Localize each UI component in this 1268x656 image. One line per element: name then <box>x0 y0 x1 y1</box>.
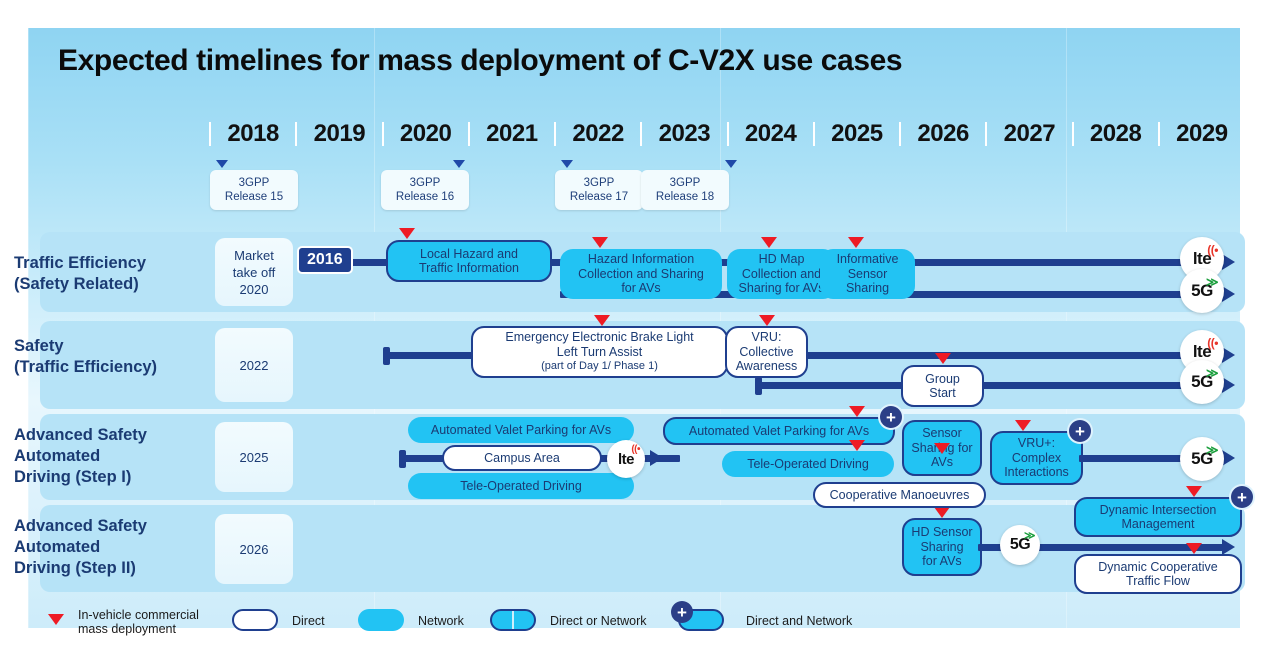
year-axis: 2018201920202021202220232024202520262027… <box>210 118 1245 154</box>
legend: In-vehicle commercial mass deployment Di… <box>40 600 1240 644</box>
plus-symbol: + <box>677 604 687 621</box>
year-tick <box>813 122 815 146</box>
legend-plus-badge: + <box>671 601 693 623</box>
year-label-2019: 2019 <box>296 118 382 154</box>
year-label-2028: 2028 <box>1073 118 1159 154</box>
item-hd-sensor-sharing[interactable]: HD Sensor Sharing for AVs <box>902 518 982 576</box>
legend-direct-or-network-label: Direct or Network <box>550 614 647 628</box>
row-label-line2: Automated <box>14 537 204 558</box>
plus-symbol: + <box>1075 423 1085 440</box>
item-tod-left[interactable]: Tele-Operated Driving <box>408 473 634 499</box>
year-tick <box>1244 122 1246 146</box>
item-hazard-info-sharing[interactable]: Hazard Information Collection and Sharin… <box>560 249 722 299</box>
year-label-2025: 2025 <box>814 118 900 154</box>
row-label-line2: Automated <box>14 446 204 467</box>
year-tick <box>1158 122 1160 146</box>
release-marker-icon <box>561 160 573 168</box>
year-tick <box>640 122 642 146</box>
row-label-line1: Traffic Efficiency <box>14 253 184 274</box>
row-label-advanced-safety-step1: Advanced Safety Automated Driving (Step … <box>14 425 204 488</box>
release-line2: Release 17 <box>555 190 643 204</box>
release-box-3: 3GPPRelease 17 <box>555 170 643 210</box>
year-tick <box>985 122 987 146</box>
year-tick <box>554 122 556 146</box>
year-label-2027: 2027 <box>986 118 1072 154</box>
marker-r4-hd-sensor <box>934 507 950 518</box>
marker-r4-dyn-intersection <box>1186 486 1202 497</box>
item-avp-left[interactable]: Automated Valet Parking for AVs <box>408 417 634 443</box>
marker-r1-informative <box>848 237 864 248</box>
row-label-line3: Driving (Step I) <box>14 467 204 488</box>
release-box-1: 3GPPRelease 15 <box>210 170 298 210</box>
row-label-line3: Driving (Step II) <box>14 558 204 579</box>
tech-badge-5g-row3: ≫ 5G <box>1180 437 1224 481</box>
year-label-2026: 2026 <box>900 118 986 154</box>
year-tick <box>468 122 470 146</box>
release-line2: Release 16 <box>381 190 469 204</box>
legend-marker-label: In-vehicle commercial mass deployment <box>78 608 228 636</box>
row-yearbox-traffic-efficiency: Market take off 2020 <box>215 238 293 306</box>
row-label-advanced-safety-step2: Advanced Safety Automated Driving (Step … <box>14 516 204 579</box>
marker-r3-sensor-sharing <box>934 443 950 454</box>
marker-r3-tod-right <box>849 440 865 451</box>
row-label-line1: Advanced Safety <box>14 425 204 446</box>
signal-icon: ((• <box>1207 244 1218 256</box>
year-label-2020: 2020 <box>383 118 469 154</box>
row-label-line2: (Traffic Efficiency) <box>14 357 204 378</box>
tech-badge-5g-row4: ≫ 5G <box>1000 525 1040 565</box>
release-marker-icon <box>453 160 465 168</box>
timeline-infographic: Expected timelines for mass deployment o… <box>0 0 1268 656</box>
year-label-2024: 2024 <box>728 118 814 154</box>
signal-icon: ((• <box>631 445 640 455</box>
release-line1: 3GPP <box>555 176 643 190</box>
release-line1: 3GPP <box>641 176 729 190</box>
year-tick <box>295 122 297 146</box>
item-eebl-sub: (part of Day 1/ Phase 1) <box>541 359 658 374</box>
plus-badge-avp-right: + <box>880 406 902 428</box>
plus-badge-dyn-intersection: + <box>1231 486 1253 508</box>
legend-network-label: Network <box>418 614 464 628</box>
item-informative-sensor-sharing[interactable]: Informative Sensor Sharing <box>820 249 915 299</box>
marker-r4-dyn-coop <box>1186 543 1202 554</box>
release-line1: 3GPP <box>210 176 298 190</box>
signal-icon: ≫ <box>1206 444 1218 456</box>
plus-symbol: + <box>1237 489 1247 506</box>
year-label-2023: 2023 <box>641 118 727 154</box>
row-yearbox-safety: 2022 <box>215 328 293 402</box>
legend-divider-icon <box>512 611 514 629</box>
release-line2: Release 18 <box>641 190 729 204</box>
item-vru-plus[interactable]: VRU+: Complex Interactions <box>990 431 1083 485</box>
item-cooperative-manoeuvres[interactable]: Cooperative Manoeuvres <box>813 482 986 508</box>
track-r2-bottom <box>755 382 1225 389</box>
signal-icon: ≫ <box>1024 531 1035 542</box>
arrow-r3-lte <box>650 450 663 466</box>
legend-marker-icon <box>48 614 64 625</box>
marker-r2-group-start <box>935 353 951 364</box>
legend-network-swatch <box>358 609 404 631</box>
item-campus-area[interactable]: Campus Area <box>442 445 602 471</box>
row-label-traffic-efficiency: Traffic Efficiency (Safety Related) <box>14 253 184 295</box>
page-title: Expected timelines for mass deployment o… <box>58 44 1158 78</box>
year-label-2021: 2021 <box>469 118 555 154</box>
release-box-4: 3GPPRelease 18 <box>641 170 729 210</box>
signal-icon: ≫ <box>1206 367 1218 379</box>
item-dynamic-cooperative-traffic-flow[interactable]: Dynamic Cooperative Traffic Flow <box>1074 554 1242 594</box>
item-group-start[interactable]: Group Start <box>901 365 984 407</box>
marker-r3-vru-plus <box>1015 420 1031 431</box>
row-label-safety: Safety (Traffic Efficiency) <box>14 336 204 378</box>
item-dynamic-intersection-management[interactable]: Dynamic Intersection Management <box>1074 497 1242 537</box>
legend-direct-label: Direct <box>292 614 325 628</box>
year-tick <box>209 122 211 146</box>
release-marker-icon <box>725 160 737 168</box>
marker-r1-hazard-info <box>592 237 608 248</box>
row-yearbox-step2: 2026 <box>215 514 293 584</box>
year-tick <box>727 122 729 146</box>
marker-r2-eebl <box>594 315 610 326</box>
tech-badge-5g-row2: ≫ 5G <box>1180 360 1224 404</box>
year-tick <box>1072 122 1074 146</box>
release-box-2: 3GPPRelease 16 <box>381 170 469 210</box>
year-label-2022: 2022 <box>555 118 641 154</box>
tech-badge-lte-row3: ((• lte <box>607 440 645 478</box>
row-label-line2: (Safety Related) <box>14 274 184 295</box>
release-marker-icon <box>216 160 228 168</box>
legend-direct-swatch <box>232 609 278 631</box>
release-line1: 3GPP <box>381 176 469 190</box>
item-vru-collective-awareness[interactable]: VRU: Collective Awareness <box>725 326 808 378</box>
item-tod-right[interactable]: Tele-Operated Driving <box>722 451 894 477</box>
marker-r2-vru <box>759 315 775 326</box>
signal-icon: ((• <box>1207 337 1218 349</box>
year-tick <box>899 122 901 146</box>
row-label-line1: Safety <box>14 336 204 357</box>
release-line2: Release 15 <box>210 190 298 204</box>
year-label-2018: 2018 <box>210 118 296 154</box>
marker-r3-avp-right <box>849 406 865 417</box>
signal-icon: ≫ <box>1206 276 1218 288</box>
item-eebl-lta[interactable]: Emergency Electronic Brake Light Left Tu… <box>471 326 728 378</box>
row-label-line1: Advanced Safety <box>14 516 204 537</box>
start-badge-2016: 2016 <box>297 246 353 274</box>
tech-badge-5g-row1: ≫ 5G <box>1180 269 1224 313</box>
year-tick <box>382 122 384 146</box>
arrow-r4 <box>1222 539 1235 555</box>
marker-r1-hd-map <box>761 237 777 248</box>
item-eebl-main: Emergency Electronic Brake Light Left Tu… <box>505 330 693 359</box>
plus-badge-vru-plus: + <box>1069 420 1091 442</box>
year-label-2029: 2029 <box>1159 118 1245 154</box>
item-local-hazard[interactable]: Local Hazard and Traffic Information <box>386 240 552 282</box>
row-yearbox-step1: 2025 <box>215 422 293 492</box>
marker-r1-local-hazard <box>399 228 415 239</box>
plus-symbol: + <box>886 409 896 426</box>
legend-direct-and-network-label: Direct and Network <box>746 614 852 628</box>
